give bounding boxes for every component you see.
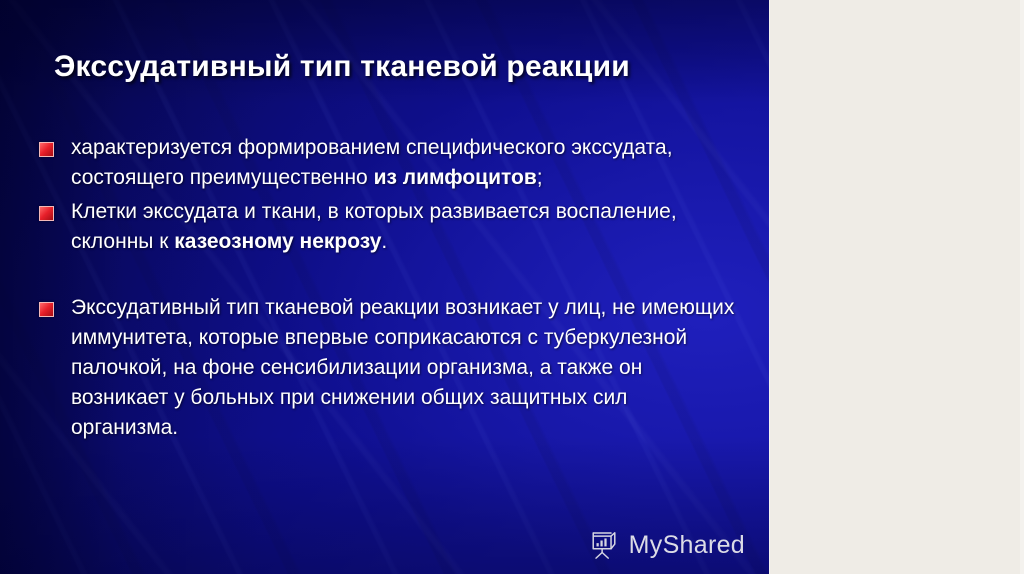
slide-title: Экссудативный тип тканевой реакции xyxy=(54,50,744,84)
list-item-text: Экссудативный тип тканевой реакции возни… xyxy=(71,296,734,439)
slide-page: Экссудативный тип тканевой реакции харак… xyxy=(0,0,1024,574)
list-item-text: Клетки экссудата и ткани, в которых разв… xyxy=(71,200,677,253)
list-item-text-emphasis: из лимфоцитов xyxy=(374,166,537,189)
presentation-board-icon xyxy=(588,530,620,560)
presentation-slide: Экссудативный тип тканевой реакции харак… xyxy=(0,0,769,574)
list-item: характеризуется формированием специфичес… xyxy=(36,133,736,193)
list-item-text: характеризуется формированием специфичес… xyxy=(71,136,673,189)
list-item-text-segment: характеризуется формированием специфичес… xyxy=(71,136,673,189)
list-item-text-emphasis: казеозному некрозу xyxy=(174,230,381,253)
myshared-label: MyShared xyxy=(629,533,745,558)
list-item-text-tail: ; xyxy=(537,166,543,189)
slide-content: Экссудативный тип тканевой реакции харак… xyxy=(0,0,769,574)
red-square-bullet-icon xyxy=(39,302,54,317)
myshared-watermark: MyShared xyxy=(588,530,745,560)
red-square-bullet-icon xyxy=(39,206,54,221)
right-panel-edge xyxy=(1020,0,1024,574)
bullet-list: характеризуется формированием специфичес… xyxy=(36,133,736,443)
list-item-text-tail: . xyxy=(381,230,387,253)
list-item: Клетки экссудата и ткани, в которых разв… xyxy=(36,197,736,257)
right-blank-panel xyxy=(769,0,1024,574)
red-square-bullet-icon xyxy=(39,142,54,157)
list-item: Экссудативный тип тканевой реакции возни… xyxy=(36,293,736,443)
